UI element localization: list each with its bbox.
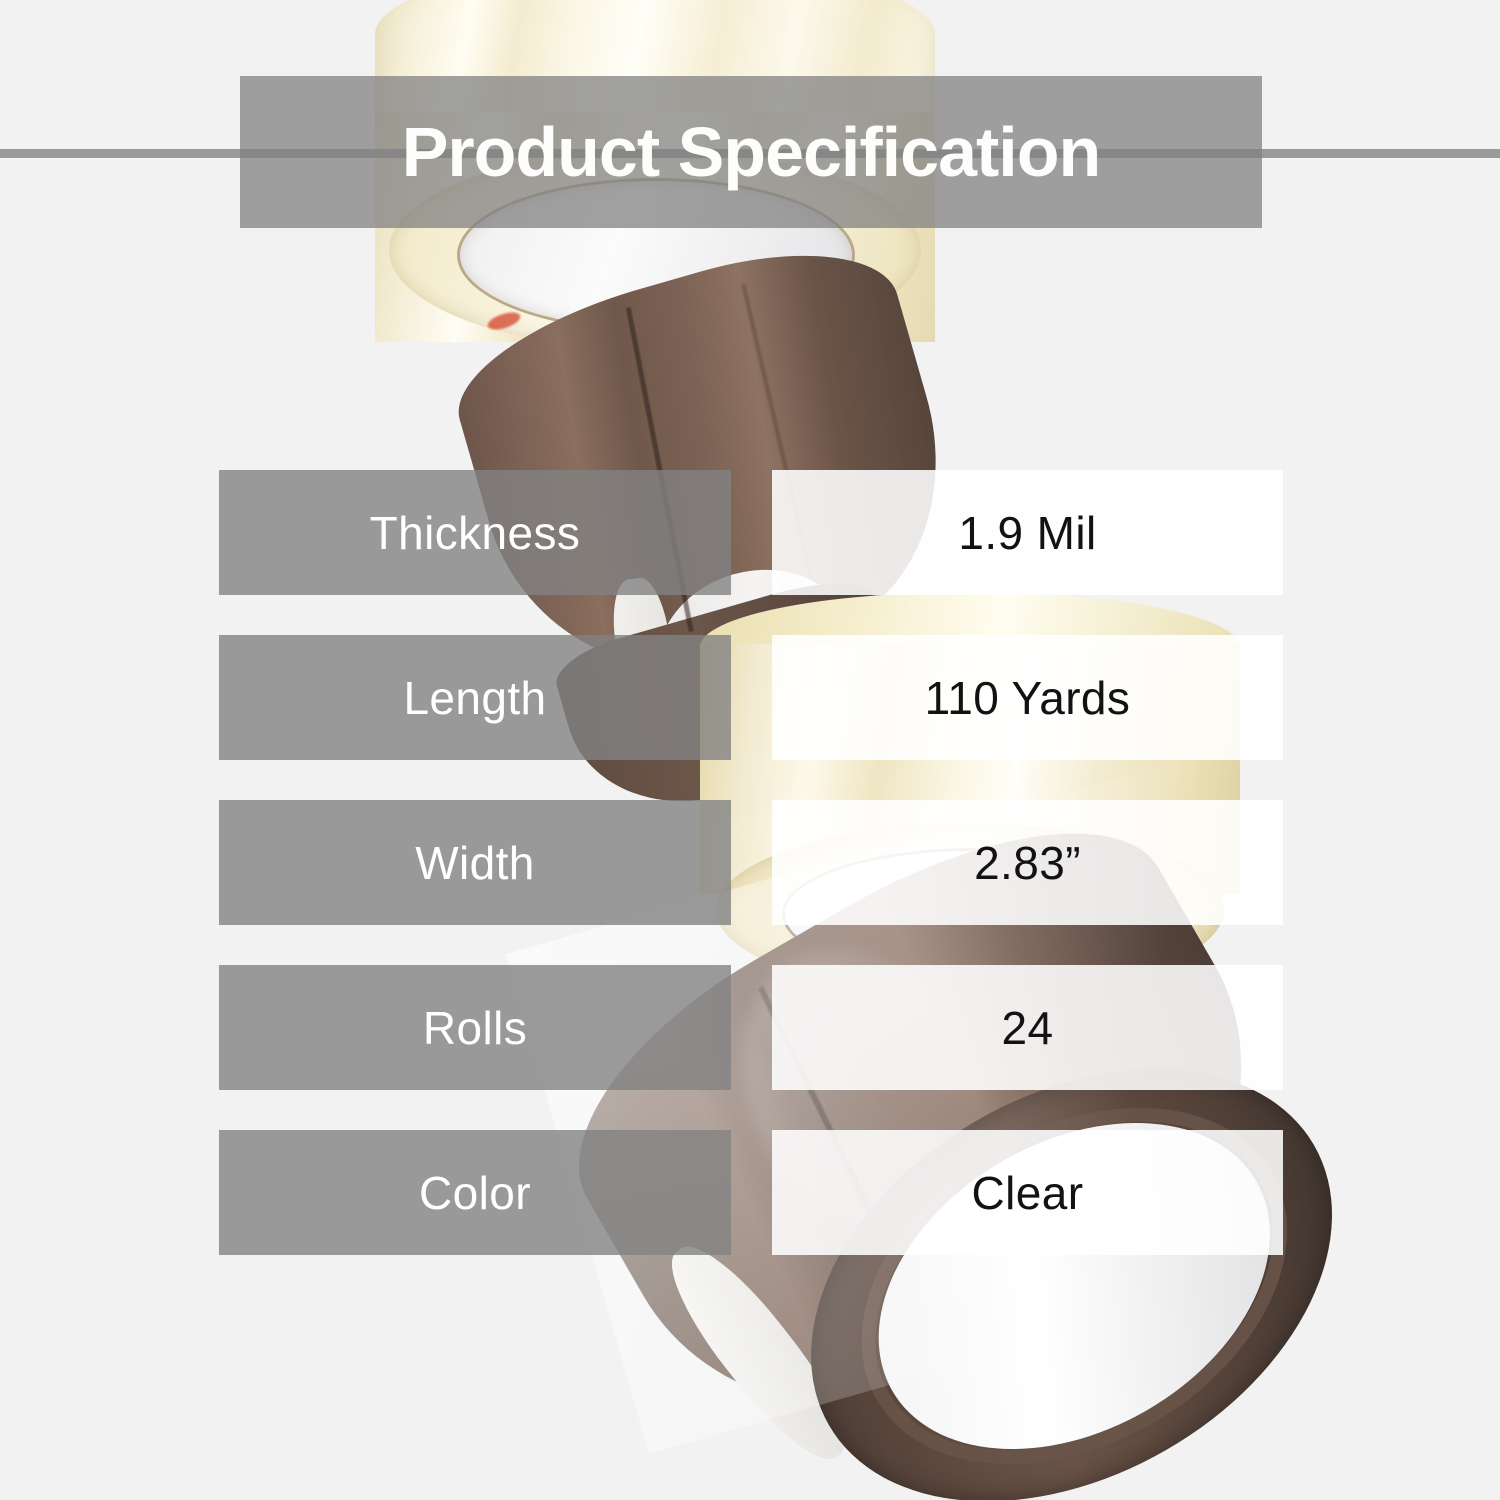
spec-row-length: Length 110 Yards [219,635,1283,760]
spec-value-box: 24 [772,965,1283,1090]
spec-value-text: Clear [972,1166,1084,1220]
specification-table: Thickness 1.9 Mil Length 110 Yards Width… [219,470,1283,1255]
spec-value-box: 110 Yards [772,635,1283,760]
page-title: Product Specification [402,117,1101,187]
spec-label-box: Width [219,800,731,925]
spec-row-width: Width 2.83” [219,800,1283,925]
spec-label-text: Length [403,671,546,725]
spec-value-text: 110 Yards [925,671,1131,725]
spec-row-color: Color Clear [219,1130,1283,1255]
spec-row-rolls: Rolls 24 [219,965,1283,1090]
spec-label-text: Color [419,1166,531,1220]
spec-value-text: 1.9 Mil [958,506,1096,560]
spec-value-box: 2.83” [772,800,1283,925]
spec-label-box: Rolls [219,965,731,1090]
title-banner: Product Specification [240,76,1262,228]
infographic-canvas: Product Specification Thickness 1.9 Mil … [0,0,1500,1500]
spec-row-thickness: Thickness 1.9 Mil [219,470,1283,595]
spec-label-box: Thickness [219,470,731,595]
spec-value-text: 24 [1002,1001,1054,1055]
spec-label-box: Length [219,635,731,760]
spec-label-text: Width [415,836,535,890]
spec-label-text: Thickness [370,506,581,560]
spec-label-box: Color [219,1130,731,1255]
spec-value-box: 1.9 Mil [772,470,1283,595]
spec-label-text: Rolls [423,1001,527,1055]
spec-value-text: 2.83” [974,836,1081,890]
spec-value-box: Clear [772,1130,1283,1255]
